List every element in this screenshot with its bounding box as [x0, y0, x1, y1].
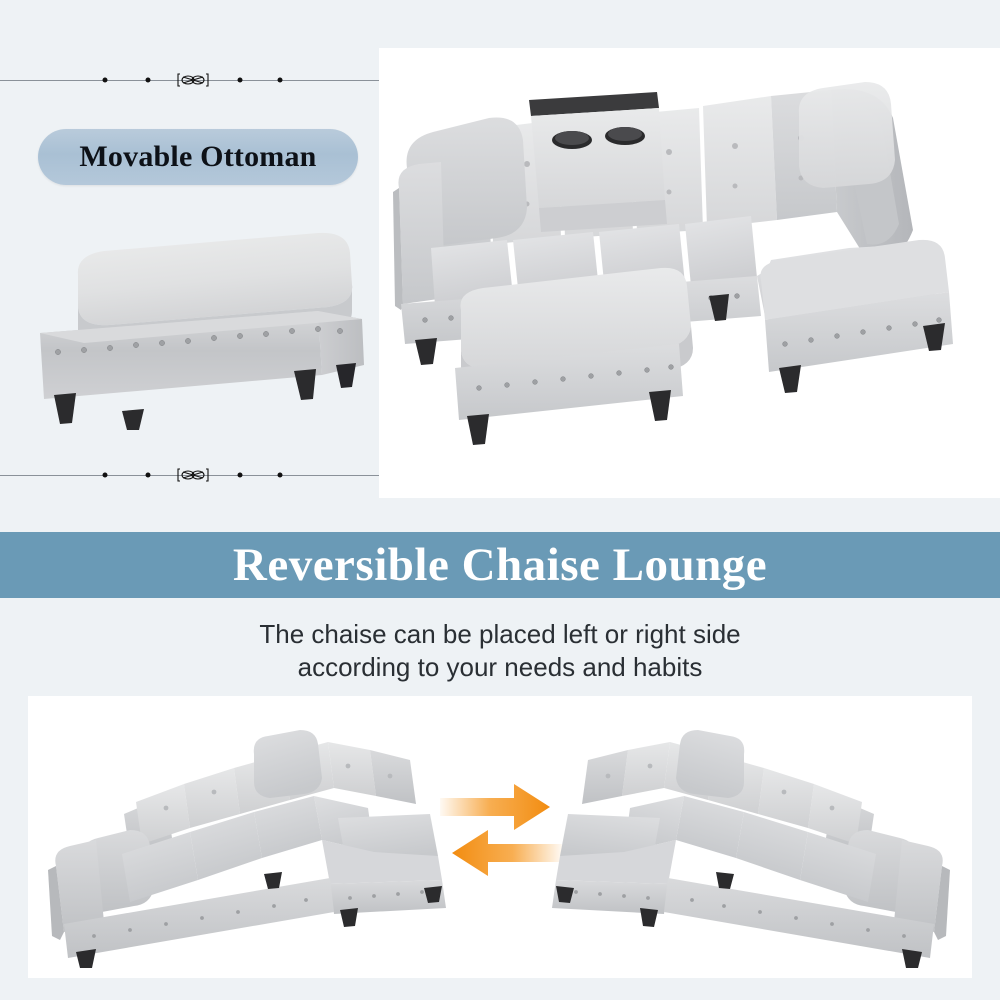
divider-top [0, 68, 379, 92]
reversible-config-panel [28, 696, 972, 978]
subtitle-line-1: The chaise can be placed left or right s… [0, 618, 1000, 651]
divider-dot [146, 473, 151, 478]
ottoman-photo [18, 215, 378, 430]
chaise-right-configuration [38, 710, 478, 968]
ornamental-knot-icon [176, 467, 210, 483]
divider-dot [146, 78, 151, 83]
banner-title: Reversible Chaise Lounge [233, 538, 767, 592]
ornamental-knot-icon [176, 72, 210, 88]
subtitle-block: The chaise can be placed left or right s… [0, 618, 1000, 684]
reversible-chaise-banner: Reversible Chaise Lounge [0, 532, 1000, 598]
divider-dot [278, 78, 283, 83]
divider-dot [238, 473, 243, 478]
divider-bottom [0, 463, 379, 487]
divider-dot [103, 78, 108, 83]
divider-dot [238, 78, 243, 83]
sectional-photo-panel [379, 48, 1000, 498]
chaise-left-configuration [520, 710, 960, 968]
badge-label: Movable Ottoman [79, 140, 316, 174]
sectional-sofa-illustration [379, 48, 1000, 498]
movable-ottoman-badge: Movable Ottoman [38, 129, 358, 185]
subtitle-line-2: according to your needs and habits [0, 651, 1000, 684]
divider-dot [103, 473, 108, 478]
product-infographic: Movable Ottoman [0, 0, 1000, 1000]
divider-dot [278, 473, 283, 478]
